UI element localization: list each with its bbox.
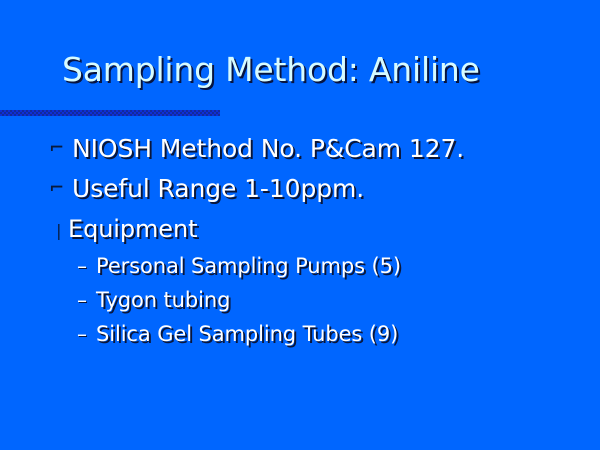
list-item-label: Equipment [68,213,197,246]
dash-bullet-icon: – [77,285,96,316]
square-corner-bullet-icon: ⌐ [50,132,72,166]
sub-list-item: – Personal Sampling Pumps (5) [0,251,600,282]
list-item: ⌐ Useful Range 1-10ppm. [0,172,600,208]
presentation-slide: Sampling Method: Aniline ⌐ NIOSH Method … [0,0,600,450]
square-corner-bullet-icon: ⌐ [50,172,72,206]
sub-list-item: – Tygon tubing [0,285,600,316]
slide-body-list: ⌐ NIOSH Method No. P&Cam 127. ⌐ Useful R… [0,132,600,350]
title-divider-rule [0,110,220,116]
list-item: ⌐ NIOSH Method No. P&Cam 127. [0,132,600,168]
page-title: Sampling Method: Aniline [62,48,480,92]
list-item-label: NIOSH Method No. P&Cam 127. [72,132,464,166]
dash-bullet-icon: – [77,251,96,282]
sub-list-item-label: Personal Sampling Pumps (5) [96,251,401,282]
sub-list-item: – Silica Gel Sampling Tubes (9) [0,319,600,350]
list-item: | Equipment [0,213,600,248]
list-item-label: Useful Range 1-10ppm. [72,172,364,206]
sub-list-item-label: Silica Gel Sampling Tubes (9) [96,319,398,350]
title-block: Sampling Method: Aniline [0,48,600,104]
sub-list-item-label: Tygon tubing [96,285,230,316]
dash-bullet-icon: – [77,319,96,350]
tick-bullet-icon: | [54,214,68,247]
